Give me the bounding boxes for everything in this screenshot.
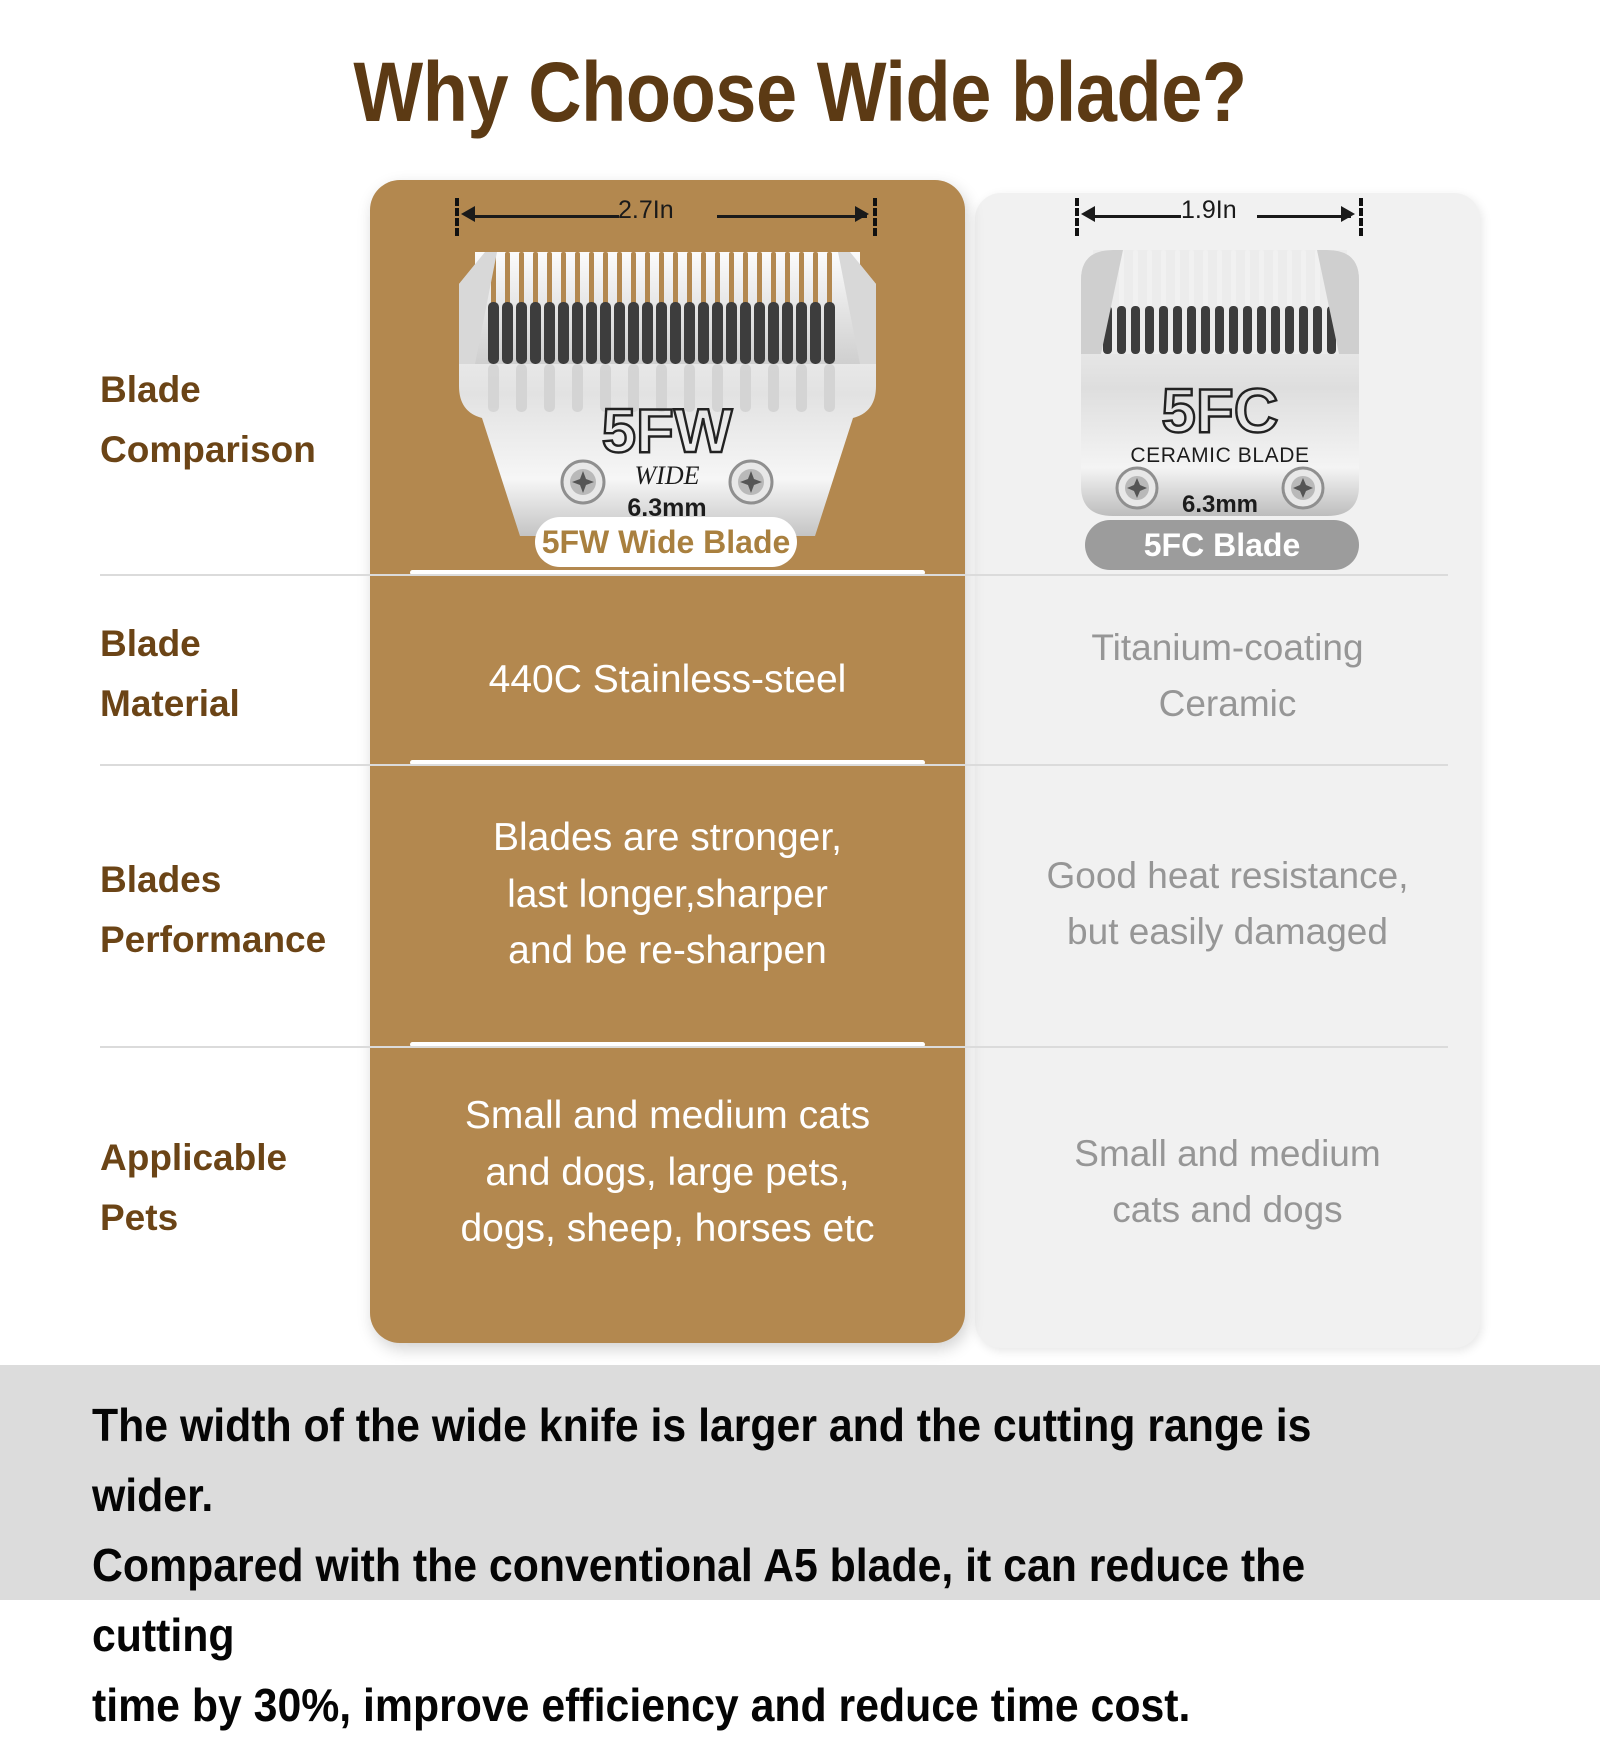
cell-material-standard: Titanium-coating Ceramic <box>975 620 1480 732</box>
row-label-line: Pets <box>100 1188 380 1248</box>
cell-pets-wide: Small and medium cats and dogs, large pe… <box>370 1088 965 1258</box>
dimension-arrow-left <box>461 206 475 222</box>
page-title: Why Choose Wide blade? <box>96 44 1504 141</box>
comparison-table: Blade Comparison Blade Material Blades P… <box>0 180 1600 1355</box>
svg-text:6.3mm: 6.3mm <box>1182 491 1258 518</box>
row-separator-2 <box>100 764 1448 766</box>
dimension-line-left <box>1089 215 1181 218</box>
cell-performance-standard: Good heat resistance, but easily damaged <box>975 848 1480 960</box>
dimension-line-right <box>717 215 867 218</box>
row-label-line: Material <box>100 674 380 734</box>
row-label-applicable-pets: Applicable Pets <box>100 1128 380 1248</box>
dimension-arrow-right <box>1341 206 1355 222</box>
cell-line: last longer,sharper <box>370 867 965 924</box>
dimension-tick-left <box>1075 198 1079 236</box>
cell-material-wide: 440C Stainless-steel <box>370 652 965 709</box>
standard-blade-image: 1.9In <box>1075 198 1365 536</box>
cell-pets-standard: Small and medium cats and dogs <box>975 1126 1480 1238</box>
dimension-tick-left <box>455 198 459 236</box>
row-separator-3 <box>100 1046 1448 1048</box>
svg-text:5FC: 5FC <box>1161 377 1278 446</box>
cell-line: Small and medium cats <box>370 1088 965 1145</box>
banner-line: The width of the wide knife is larger an… <box>92 1391 1413 1531</box>
row-separator-1 <box>100 574 1448 576</box>
dimension-arrow-left <box>1081 206 1095 222</box>
row-label-line: Comparison <box>100 420 380 480</box>
dimension-label: 2.7In <box>610 193 682 227</box>
row-label-line: Blade <box>100 614 380 674</box>
banner-line: Compared with the conventional A5 blade,… <box>92 1531 1413 1671</box>
cell-line: Titanium-coating <box>975 620 1480 676</box>
summary-banner: The width of the wide knife is larger an… <box>0 1365 1600 1600</box>
cell-line: and dogs, large pets, <box>370 1145 965 1202</box>
cell-line: Blades are stronger, <box>370 810 965 867</box>
cell-line: but easily damaged <box>975 904 1480 960</box>
blade-model-text: 5FW <box>602 397 733 466</box>
cell-line: Ceramic <box>975 676 1480 732</box>
cell-line: cats and dogs <box>975 1182 1480 1238</box>
wide-blade-caption: 5FW Wide Blade <box>535 517 797 567</box>
cell-line: Small and medium <box>975 1126 1480 1182</box>
wide-blade-image: 2.7In <box>455 198 880 536</box>
row-label-line: Blades <box>100 850 380 910</box>
dimension-label: 1.9In <box>1173 193 1245 227</box>
cell-line: dogs, sheep, horses etc <box>370 1201 965 1258</box>
standard-blade-svg: 5FC CERAMIC BLADE 6.3mm <box>1075 236 1365 536</box>
banner-line: time by 30%, improve efficiency and redu… <box>92 1671 1413 1741</box>
row-label-line: Performance <box>100 910 380 970</box>
cell-line: and be re-sharpen <box>370 923 965 980</box>
wide-blade-svg: 5FW WIDE 6.3mm DODAER <box>455 236 880 536</box>
svg-text:CERAMIC BLADE: CERAMIC BLADE <box>1130 444 1309 467</box>
svg-text:WIDE: WIDE <box>635 461 700 490</box>
summary-banner-text: The width of the wide knife is larger an… <box>92 1391 1413 1741</box>
cell-performance-wide: Blades are stronger, last longer,sharper… <box>370 810 965 980</box>
dimension-arrow-right <box>855 206 869 222</box>
standard-blade-caption: 5FC Blade <box>1085 520 1359 570</box>
row-label-blade-comparison: Blade Comparison <box>100 360 380 480</box>
row-label-blades-performance: Blades Performance <box>100 850 380 970</box>
dimension-tick-right <box>873 198 877 236</box>
dimension-line-right <box>1257 215 1351 218</box>
row-label-blade-material: Blade Material <box>100 614 380 734</box>
standard-blade-dimension: 1.9In <box>1075 198 1365 232</box>
wide-blade-dimension: 2.7In <box>455 198 880 232</box>
row-label-line: Blade <box>100 360 380 420</box>
dimension-line-left <box>469 215 619 218</box>
dimension-tick-right <box>1359 198 1363 236</box>
cell-line: Good heat resistance, <box>975 848 1480 904</box>
cell-line: 440C Stainless-steel <box>370 652 965 709</box>
row-label-line: Applicable <box>100 1128 380 1188</box>
